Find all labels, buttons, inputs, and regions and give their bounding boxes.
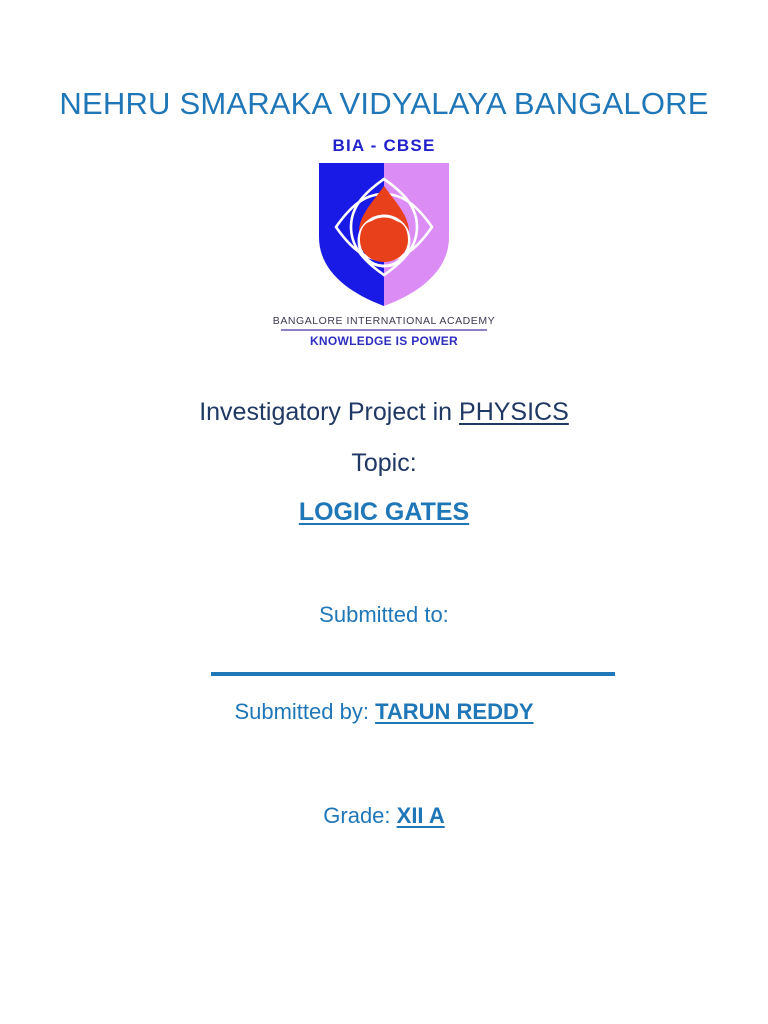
project-line: Investigatory Project in PHYSICS	[0, 398, 768, 427]
grade-value-text: XII A	[397, 803, 445, 828]
topic-label: Topic:	[0, 449, 768, 478]
project-prefix-text: Investigatory Project in	[199, 398, 459, 426]
grade-line: Grade: XII A	[0, 803, 768, 829]
shield-icon	[309, 159, 459, 309]
logo-academy-name: BANGALORE INTERNATIONAL ACADEMY	[273, 315, 495, 327]
submitted-by-prefix-text: Submitted by:	[234, 699, 375, 724]
school-logo: BIA - CBSE	[0, 136, 768, 348]
submitted-by-line: Submitted by: TARUN REDDY	[0, 699, 768, 725]
signature-line	[211, 672, 615, 676]
page-title: NEHRU SMARAKA VIDYALAYA BANGALORE	[0, 86, 768, 122]
logo-divider	[281, 329, 487, 331]
shield-graphic	[309, 159, 459, 309]
logo-motto: KNOWLEDGE IS POWER	[310, 334, 458, 348]
document-page: NEHRU SMARAKA VIDYALAYA BANGALORE BIA - …	[0, 0, 768, 1024]
submitted-to-label: Submitted to:	[0, 602, 768, 628]
logo-board-label: BIA - CBSE	[333, 136, 436, 156]
topic-value-text: LOGIC GATES	[299, 498, 469, 526]
topic-value-line: LOGIC GATES	[0, 498, 768, 527]
project-subject-text: PHYSICS	[459, 398, 569, 426]
submitted-by-name-text: TARUN REDDY	[375, 699, 533, 724]
grade-prefix-text: Grade:	[323, 803, 396, 828]
